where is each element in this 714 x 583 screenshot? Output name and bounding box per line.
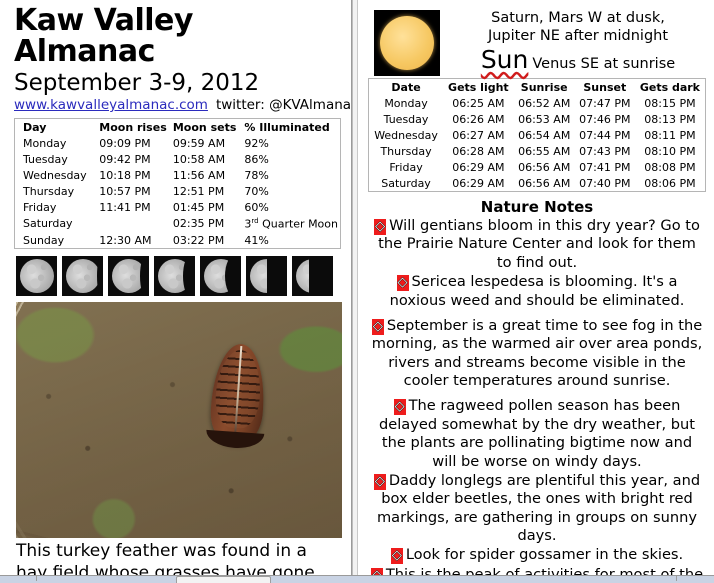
nature-note-item: ◇The ragweed pollen season has been dela… [368,397,706,471]
sun-cell-gets-dark: 08:15 PM [635,95,706,111]
moon-cell-rises: 12:30 AM [97,232,171,249]
col-gets-dark: Gets dark [635,79,706,96]
sun-cell-sunset: 07:44 PM [575,127,635,143]
publication-title: Kaw Valley Almanac [14,6,341,68]
sun-cell-gets-light: 06:28 AM [443,143,514,159]
moon-cell-illuminated: 60% [242,200,340,216]
nature-note-text: Daddy longlegs are plentiful this year, … [377,472,700,544]
sun-cell-gets-dark: 08:11 PM [635,127,706,143]
nature-note-item: ◇Sericea lespedesa is blooming. It's a n… [368,273,706,310]
right-margin-marker [676,576,677,581]
nature-note-text: September is a great time to see fog in … [372,317,702,389]
moon-cell-rises: 10:57 PM [97,184,171,200]
diamond-bullet-icon: ◇ [372,319,384,335]
planet-line-2: Jupiter NE after midnight [450,28,706,46]
moon-cell-sets: 11:56 AM [171,168,243,184]
table-row: Wednesday06:27 AM06:54 AM07:44 PM08:11 P… [369,127,706,143]
moon-phase-image [108,256,149,296]
sun-photo [374,10,440,76]
moon-cell-illuminated: 78% [242,168,340,184]
sun-cell-sunset: 07:41 PM [575,159,635,175]
moon-phase-strip [16,256,341,296]
col-moon-rises: Moon rises [97,119,171,136]
left-margin-marker [36,576,37,581]
sun-cell-date: Saturday [369,175,444,192]
moon-cell-day: Tuesday [15,152,98,168]
feather-photo [16,302,342,538]
sun-cell-date: Monday [369,95,444,111]
sun-cell-sunrise: 06:55 AM [514,143,575,159]
twitter-handle: twitter: @KVAlmanac [216,97,352,113]
col-day: Day [15,119,98,136]
moon-cell-sets: 03:22 PM [171,232,243,249]
col-sunset: Sunset [575,79,635,96]
sun-cell-date: Friday [369,159,444,175]
moon-cell-illuminated: 70% [242,184,340,200]
moon-cell-day: Sunday [15,232,98,249]
nature-note-item: ◇Look for spider gossamer in the skies. [368,546,706,564]
table-row: Monday09:09 PM09:59 AM92% [15,136,341,152]
planet-line-1: Saturn, Mars W at dusk, [450,10,706,28]
sun-cell-sunset: 07:40 PM [575,175,635,192]
moon-cell-rises: 10:18 PM [97,168,171,184]
col-sunrise: Sunrise [514,79,575,96]
moon-cell-rises: 09:42 PM [97,152,171,168]
table-row: Sunday12:30 AM03:22 PM41% [15,232,341,249]
moon-times-table: Day Moon rises Moon sets % Illuminated M… [14,118,341,249]
publication-date-range: September 3-9, 2012 [14,71,341,96]
moon-phase-image [246,256,287,296]
moon-phase-image [200,256,241,296]
moon-cell-illuminated: 92% [242,136,340,152]
moon-shadow [97,256,103,296]
document-viewer: Kaw Valley Almanac September 3-9, 2012 w… [0,0,714,583]
table-row: Thursday06:28 AM06:55 AM07:43 PM08:10 PM [369,143,706,159]
table-row: Saturday02:35 PM3rd Quarter Moon [15,216,341,233]
sun-cell-gets-dark: 08:13 PM [635,111,706,127]
moon-disc-icon [20,259,54,293]
moon-phase-image [154,256,195,296]
nature-note-text: The ragweed pollen season has been delay… [379,397,695,469]
nature-note-item: ◇September is a great time to see fog in… [368,317,706,391]
moon-cell-sets: 10:58 AM [171,152,243,168]
table-row: Tuesday06:26 AM06:53 AM07:46 PM08:13 PM [369,111,706,127]
sun-heading: Sun [481,47,529,72]
diamond-bullet-icon: ◇ [374,474,386,490]
sun-cell-sunset: 07:47 PM [575,95,635,111]
table-header-row: Day Moon rises Moon sets % Illuminated [15,119,341,136]
sun-cell-sunrise: 06:53 AM [514,111,575,127]
diamond-bullet-icon: ◇ [394,399,406,415]
moon-cell-illuminated: 3rd Quarter Moon [242,216,340,233]
moon-shadow [309,256,333,296]
sun-cell-gets-light: 06:27 AM [443,127,514,143]
moon-cell-sets: 09:59 AM [171,136,243,152]
nature-note-item: ◇Daddy longlegs are plentiful this year,… [368,472,706,546]
table-row: Wednesday10:18 PM11:56 AM78% [15,168,341,184]
col-gets-light: Gets light [443,79,514,96]
moon-cell-sets: 02:35 PM [171,216,243,233]
page-tab-handle[interactable] [176,576,271,583]
sun-disc-icon [380,16,434,70]
planet-visibility: Saturn, Mars W at dusk, Jupiter NE after… [450,10,706,72]
moon-cell-rises [97,216,171,233]
sun-cell-sunrise: 06:54 AM [514,127,575,143]
sun-cell-gets-dark: 08:06 PM [635,175,706,192]
moon-shadow [54,256,57,296]
sun-cell-sunrise: 06:56 AM [514,159,575,175]
moon-cell-sets: 01:45 PM [171,200,243,216]
sun-cell-sunrise: 06:56 AM [514,175,575,192]
table-header-row: Date Gets light Sunrise Sunset Gets dark [369,79,706,96]
nature-note-text: Look for spider gossamer in the skies. [406,546,683,563]
moon-cell-illuminated: 41% [242,232,340,249]
sun-cell-gets-light: 06:29 AM [443,175,514,192]
moon-cell-day: Monday [15,136,98,152]
moon-cell-day: Thursday [15,184,98,200]
sun-label-row: Sun Venus SE at sunrise [450,47,706,72]
sun-cell-gets-light: 06:26 AM [443,111,514,127]
moon-phase-image [16,256,57,296]
table-row: Friday11:41 PM01:45 PM60% [15,200,341,216]
diamond-bullet-icon: ◇ [391,548,403,564]
sun-times-table: Date Gets light Sunrise Sunset Gets dark… [368,78,706,192]
sun-cell-sunrise: 06:52 AM [514,95,575,111]
sun-cell-sunset: 07:46 PM [575,111,635,127]
col-illuminated: % Illuminated [242,119,340,136]
sun-cell-gets-dark: 08:10 PM [635,143,706,159]
col-date: Date [369,79,444,96]
nature-notes-list: ◇Will gentians bloom in this dry year? G… [368,217,706,583]
diamond-bullet-icon: ◇ [397,275,409,291]
moon-cell-sets: 12:51 PM [171,184,243,200]
table-row: Saturday06:29 AM06:56 AM07:40 PM08:06 PM [369,175,706,192]
sun-cell-gets-dark: 08:08 PM [635,159,706,175]
document-page-right: Saturn, Mars W at dusk, Jupiter NE after… [357,0,714,583]
sun-cell-sunset: 07:43 PM [575,143,635,159]
moon-shadow [140,256,149,296]
venus-line: Venus SE at sunrise [532,56,675,72]
col-moon-sets: Moon sets [171,119,243,136]
table-row: Monday06:25 AM06:52 AM07:47 PM08:15 PM [369,95,706,111]
document-page-left: Kaw Valley Almanac September 3-9, 2012 w… [0,0,352,583]
sun-cell-gets-light: 06:25 AM [443,95,514,111]
moon-shadow [267,256,287,296]
table-row: Friday06:29 AM06:56 AM07:41 PM08:08 PM [369,159,706,175]
sun-cell-gets-light: 06:29 AM [443,159,514,175]
nature-note-text: Will gentians bloom in this dry year? Go… [378,217,700,271]
moon-disc-icon [66,259,100,293]
sun-cell-date: Thursday [369,143,444,159]
moon-cell-rises: 11:41 PM [97,200,171,216]
sun-header: Saturn, Mars W at dusk, Jupiter NE after… [374,10,706,76]
sun-cell-date: Tuesday [369,111,444,127]
website-link[interactable]: www.kawvalleyalmanac.com [14,97,208,113]
sun-cell-date: Wednesday [369,127,444,143]
moon-cell-illuminated: 86% [242,152,340,168]
photo-soil-layer [16,302,342,538]
moon-cell-day: Saturday [15,216,98,233]
moon-phase-image [292,256,333,296]
table-row: Thursday10:57 PM12:51 PM70% [15,184,341,200]
moon-shadow [225,256,241,296]
moon-phase-image [62,256,103,296]
diamond-bullet-icon: ◇ [374,219,386,235]
moon-shadow [183,256,195,296]
table-row: Tuesday09:42 PM10:58 AM86% [15,152,341,168]
moon-cell-day: Friday [15,200,98,216]
nature-notes-title: Nature Notes [368,198,706,216]
nature-note-text: Sericea lespedesa is blooming. It's a no… [390,273,685,308]
moon-cell-rises: 09:09 PM [97,136,171,152]
moon-cell-day: Wednesday [15,168,98,184]
nature-note-item: ◇Will gentians bloom in this dry year? G… [368,217,706,272]
contact-line: www.kawvalleyalmanac.comtwitter: @KVAlma… [14,97,341,113]
viewer-bottom-bar [0,576,714,583]
